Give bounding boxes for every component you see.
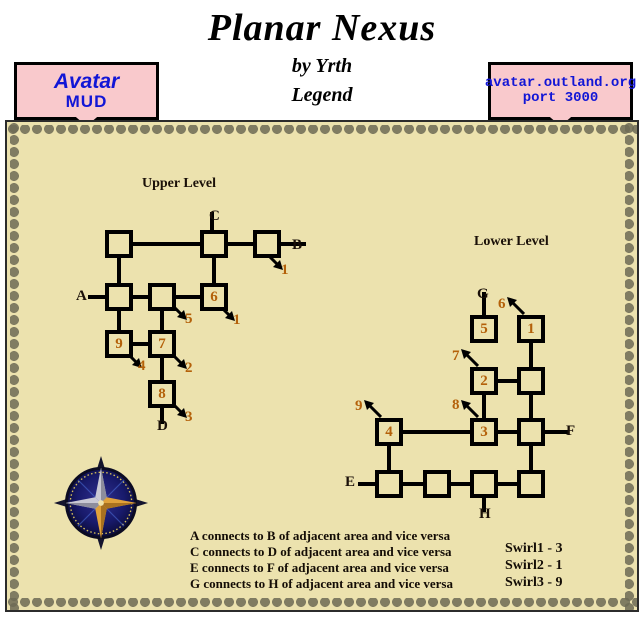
exit-number-label: 9 — [355, 398, 363, 415]
exit-arrow-icon — [461, 400, 479, 418]
map-edge — [496, 379, 519, 383]
compass-rose-icon — [53, 455, 149, 551]
node-label: 3 — [474, 422, 494, 442]
map-node[interactable]: 2 — [470, 367, 498, 395]
exit-arrow-icon — [364, 400, 382, 418]
node-label: 2 — [474, 371, 494, 391]
node-label: 1 — [521, 319, 541, 339]
map-node[interactable] — [105, 283, 133, 311]
node-label: 9 — [109, 334, 129, 354]
map-node[interactable] — [105, 230, 133, 258]
node-label — [152, 287, 172, 307]
map-node[interactable] — [253, 230, 281, 258]
map-edge — [529, 341, 533, 369]
badge-line-2: port 3000 — [523, 91, 599, 106]
map-node[interactable] — [517, 367, 545, 395]
exit-arrow-icon — [461, 349, 479, 367]
server-address-badge: avatar.outland.org port 3000 — [488, 62, 633, 120]
upper-level-title: Upper Level — [142, 176, 216, 192]
badge-line-1: avatar.outland.org — [485, 76, 636, 91]
node-label: 4 — [379, 422, 399, 442]
badge-line-2: MUD — [66, 93, 108, 111]
map-node[interactable]: 8 — [148, 380, 176, 408]
page-header: Planar Nexus by Yrth Legend Avatar MUD a… — [0, 0, 644, 120]
map-edge — [529, 393, 533, 420]
node-label — [521, 422, 541, 442]
map-node[interactable] — [375, 470, 403, 498]
map-node[interactable] — [517, 418, 545, 446]
map-edge — [131, 242, 204, 246]
node-label — [427, 474, 447, 494]
lower-level-title: Lower Level — [474, 234, 549, 250]
area-exit-label-H: H — [479, 506, 491, 523]
page-title: Planar Nexus — [0, 6, 644, 50]
map-node[interactable]: 1 — [517, 315, 545, 343]
badge-text-group: Avatar MUD — [14, 62, 159, 120]
exit-number-label: 4 — [138, 358, 146, 375]
node-label — [257, 234, 277, 254]
map-edge — [387, 444, 391, 472]
area-exit-label-C: C — [209, 208, 220, 225]
legend-connection-line: G connects to H of adjacent area and vic… — [190, 576, 453, 592]
area-exit-label-F: F — [566, 423, 575, 440]
map-node[interactable] — [200, 230, 228, 258]
exit-number-label: 6 — [498, 296, 506, 313]
node-label: 7 — [152, 334, 172, 354]
map-edge — [449, 482, 472, 486]
legend-connection-line: A connects to B of adjacent area and vic… — [190, 528, 450, 544]
node-label: 6 — [204, 287, 224, 307]
panel-edge-scallop-bottom — [7, 598, 637, 607]
area-exit-label-E: E — [345, 474, 355, 491]
map-node[interactable]: 9 — [105, 330, 133, 358]
map-node[interactable]: 6 — [200, 283, 228, 311]
map-node[interactable] — [470, 470, 498, 498]
map-node[interactable]: 3 — [470, 418, 498, 446]
map-node[interactable]: 4 — [375, 418, 403, 446]
node-label — [109, 234, 129, 254]
legend-swirl-line: Swirl3 - 9 — [505, 575, 563, 591]
exit-number-label: 7 — [452, 348, 460, 365]
node-label: 5 — [474, 319, 494, 339]
map-edge — [401, 430, 472, 434]
exit-number-label: 8 — [452, 397, 460, 414]
node-label — [204, 234, 224, 254]
area-exit-label-A: A — [76, 288, 87, 305]
legend-swirl-line: Swirl2 - 1 — [505, 558, 563, 574]
node-label — [521, 474, 541, 494]
node-label — [521, 371, 541, 391]
panel-edge-scallop-top — [7, 125, 637, 134]
legend-connection-line: C connects to D of adjacent area and vic… — [190, 544, 452, 560]
exit-number-label: 5 — [185, 311, 193, 328]
legend-connection-line: E connects to F of adjacent area and vic… — [190, 560, 449, 576]
map-edge — [496, 430, 519, 434]
node-label — [109, 287, 129, 307]
legend-swirl-line: Swirl1 - 3 — [505, 541, 563, 557]
area-exit-label-G: G — [477, 286, 489, 303]
node-label: 8 — [152, 384, 172, 404]
badge-line-1: Avatar — [54, 71, 119, 93]
map-edge-exit-F — [543, 430, 568, 434]
area-exit-label-B: B — [292, 237, 302, 254]
map-node[interactable]: 7 — [148, 330, 176, 358]
map-node[interactable] — [423, 470, 451, 498]
map-edge — [401, 482, 425, 486]
node-label — [474, 474, 494, 494]
map-edge — [482, 393, 486, 420]
map-edge — [496, 482, 519, 486]
map-node[interactable] — [517, 470, 545, 498]
map-node[interactable]: 5 — [470, 315, 498, 343]
avatar-mud-logo-badge: Avatar MUD — [14, 62, 159, 120]
exit-number-label: 1 — [281, 262, 289, 279]
map-node[interactable] — [148, 283, 176, 311]
panel-edge-scallop-right — [625, 122, 634, 610]
node-label — [379, 474, 399, 494]
exit-number-label: 3 — [185, 409, 193, 426]
exit-arrow-icon — [507, 297, 525, 315]
map-edge — [529, 444, 533, 472]
panel-edge-scallop-left — [10, 122, 19, 610]
exit-number-label: 1 — [233, 312, 241, 329]
area-exit-label-D: D — [157, 418, 168, 435]
badge-text-group: avatar.outland.org port 3000 — [488, 62, 633, 120]
exit-number-label: 2 — [185, 360, 193, 377]
